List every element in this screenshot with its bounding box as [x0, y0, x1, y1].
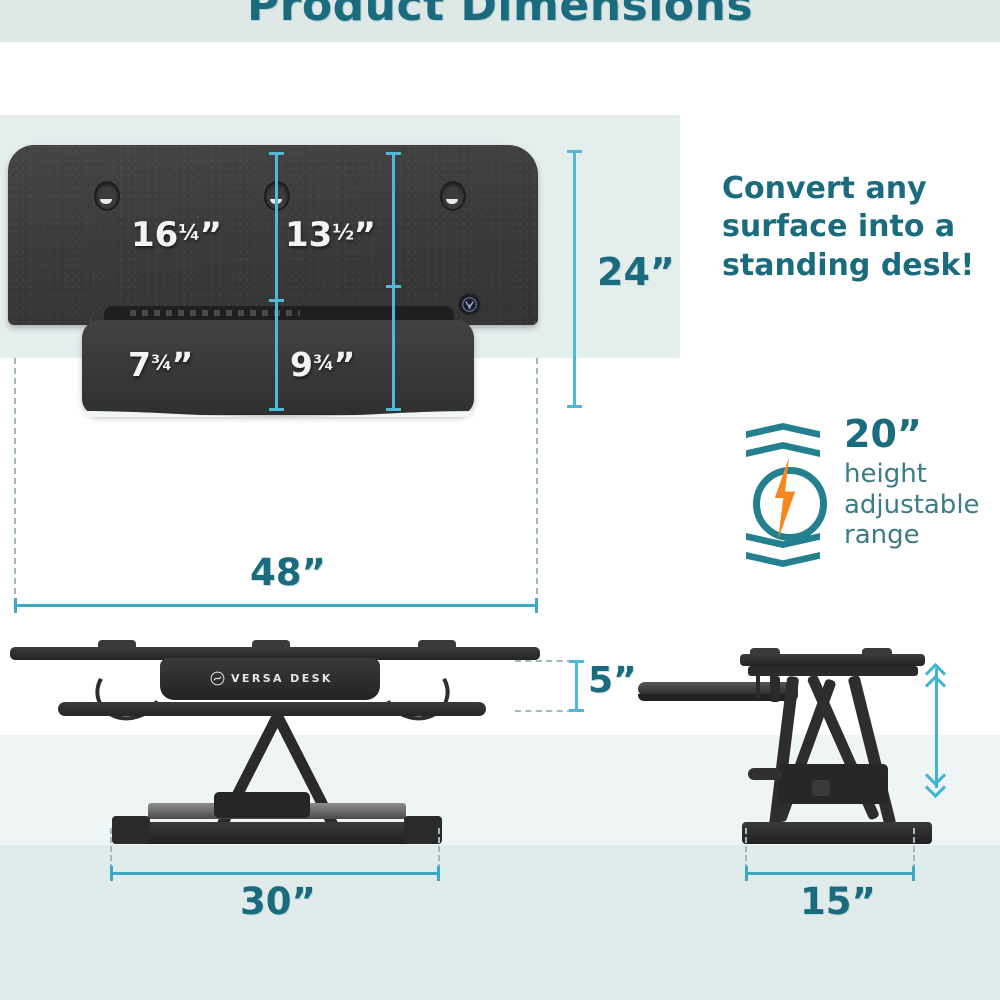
badge-value: 20” [844, 415, 994, 453]
height-dimension-line [575, 660, 578, 712]
measurement-desktop-a: 16¼” [131, 215, 222, 255]
tray-post [770, 676, 780, 702]
side-support-arm-left [87, 651, 170, 729]
dimension-cap [437, 866, 440, 881]
depth-label: 24” [597, 250, 675, 294]
power-outlet-icon [812, 780, 830, 796]
dimension-cap [386, 285, 401, 288]
headline-text: Convert any surface into a standing desk… [722, 170, 992, 285]
extension-line-top [515, 660, 573, 662]
width-dimension-line [14, 604, 538, 607]
raised-desktop-surface [740, 654, 925, 666]
dimension-cap [14, 598, 17, 613]
side-grommet-bump [98, 640, 136, 647]
extension-line-right [913, 828, 915, 870]
measurement-tray-a: 7¾” [128, 345, 193, 384]
dimension-cap [567, 405, 582, 408]
side-foot-right [404, 816, 442, 844]
dimension-cap [269, 152, 284, 155]
dimension-guide-mid [392, 152, 395, 410]
measurement-tray-b: 9¾” [290, 345, 355, 384]
side-grommet-bump [252, 640, 290, 647]
dimension-cap [269, 408, 284, 411]
raised-side-view-diagram [630, 640, 950, 855]
raised-adjust-knob [748, 768, 782, 780]
extension-line-right [438, 828, 440, 870]
extension-line-right [536, 358, 538, 604]
brand-name: VERSA DESK [231, 672, 333, 685]
badge-icon-group [740, 415, 832, 585]
dimension-cap [569, 709, 584, 712]
chevron-up-icon [746, 423, 820, 438]
side-support-arm-right [374, 651, 457, 729]
brand-logo: VERSA DESK [210, 671, 333, 686]
raised-base-width-label: 15” [800, 880, 876, 923]
dimension-cap [912, 866, 915, 881]
dimension-cap [535, 598, 538, 613]
dimension-cap [567, 150, 582, 153]
dimension-cap [110, 866, 113, 881]
width-label: 48” [250, 551, 326, 594]
base-width-label: 30” [240, 880, 316, 923]
side-motor-housing [214, 792, 310, 818]
dimension-guide-left [275, 152, 278, 410]
raised-grommet-bump [862, 648, 892, 655]
cable-grommet-icon [94, 181, 120, 211]
depth-dimension-line [573, 150, 576, 408]
raised-base-width-dimension-line [745, 872, 915, 875]
badge-description: height adjustable range [844, 459, 994, 551]
raised-grommet-bump [750, 648, 780, 655]
side-base-plate [112, 822, 442, 844]
chevron-down-icon [746, 552, 820, 567]
extension-line-left [110, 828, 112, 870]
measurement-desktop-b: 13½” [285, 215, 376, 255]
cable-grommet-icon [440, 181, 466, 211]
dimension-cap [745, 866, 748, 881]
side-view-diagram: VERSA DESK [0, 640, 560, 855]
side-grommet-bump [418, 640, 456, 647]
versa-circle-logo-icon [458, 293, 481, 316]
page-title: Product Dimensions [0, 0, 1000, 31]
side-foot-left [112, 816, 150, 844]
dimension-cap [269, 299, 284, 302]
desktop-surface [8, 145, 538, 325]
dimension-cap [569, 660, 584, 663]
extension-line-left [14, 358, 16, 604]
extension-line-bottom [515, 710, 573, 712]
versa-circle-logo-icon [210, 671, 225, 686]
extension-line-left [745, 828, 747, 870]
infographic-canvas: Product Dimensions Convert any surface i… [0, 0, 1000, 1000]
dimension-cap [386, 408, 401, 411]
dimension-cap [386, 152, 401, 155]
base-width-dimension-line [110, 872, 440, 875]
chevron-up-icon [746, 442, 820, 457]
tray-hanger-bracket [756, 674, 760, 698]
raised-motor-housing [778, 764, 888, 804]
badge-text-group: 20” height adjustable range [844, 415, 994, 551]
raised-base-plate [742, 822, 932, 844]
height-adjustable-badge: 20” height adjustable range [740, 415, 990, 585]
top-view-diagram [0, 140, 560, 430]
